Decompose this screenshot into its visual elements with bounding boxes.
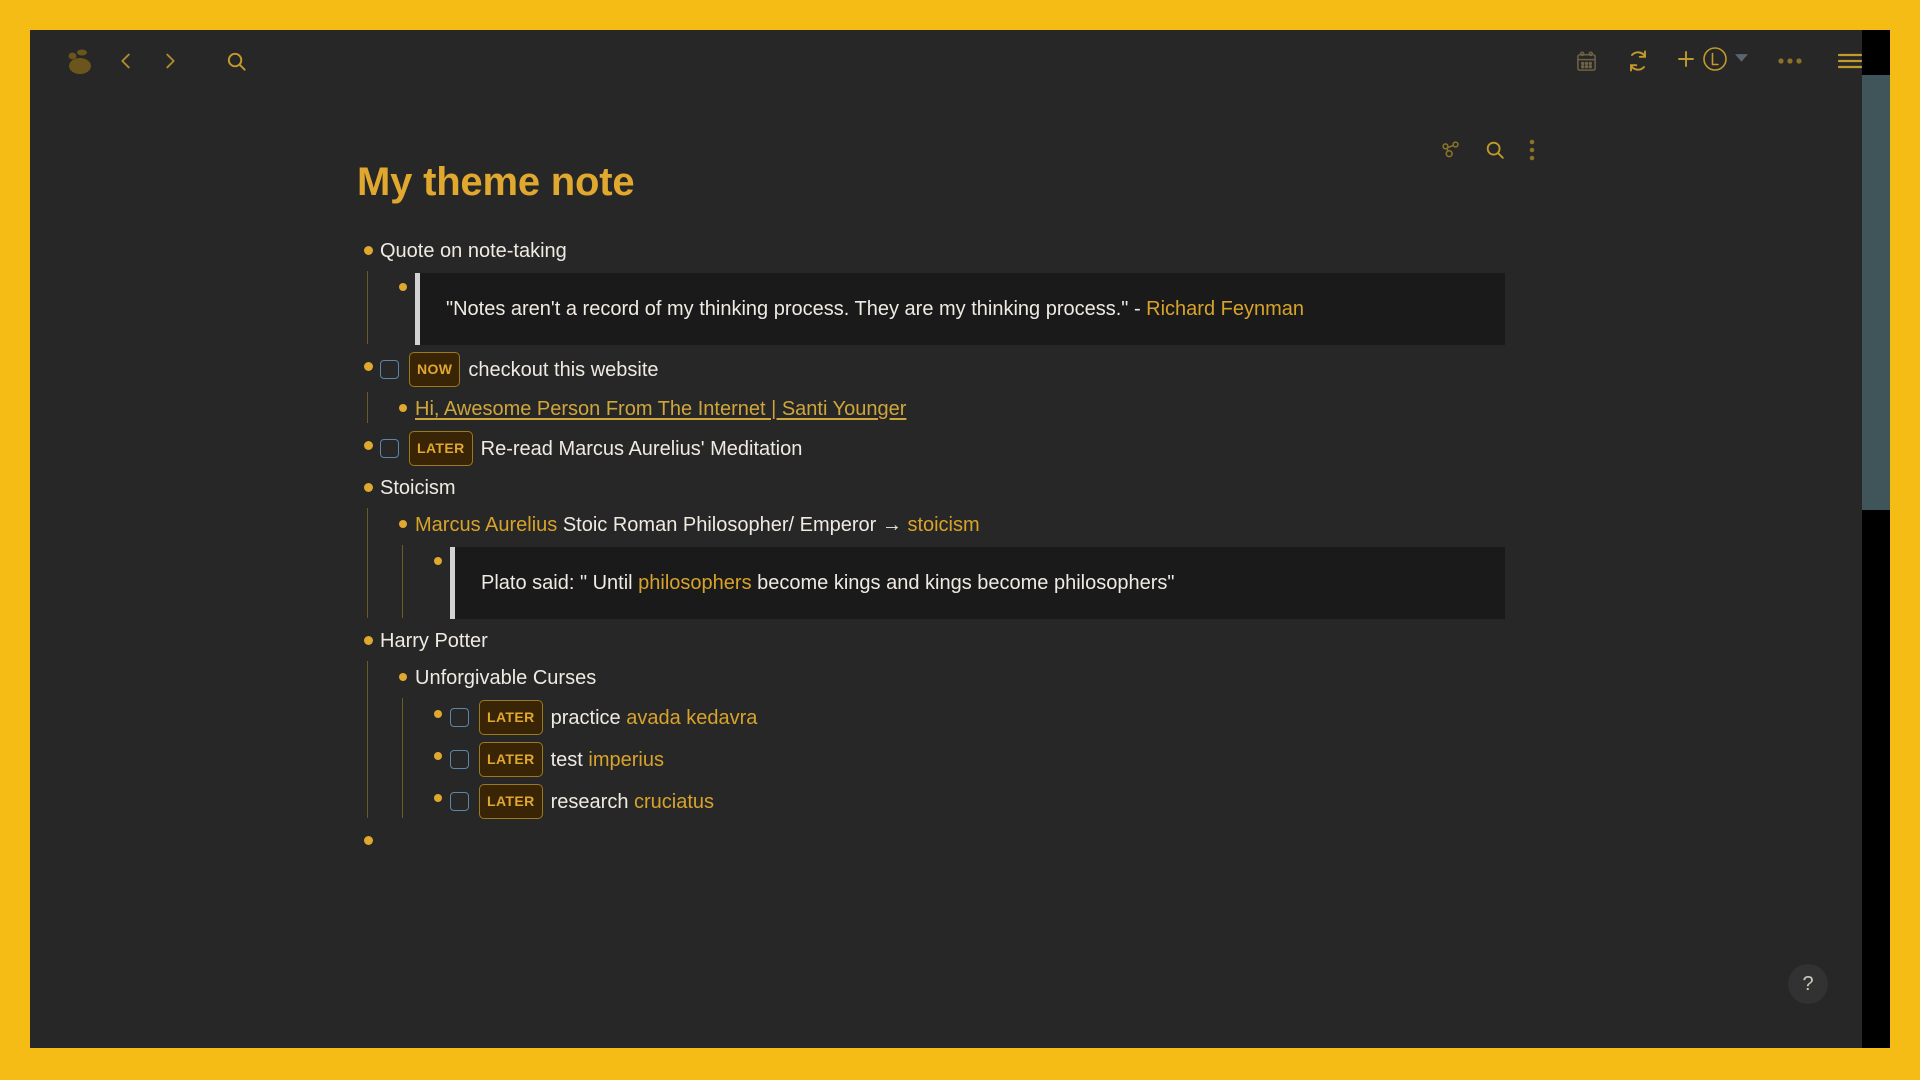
bullet-icon [399,283,407,291]
todo-text: Re-read Marcus Aurelius' Meditation [481,438,803,460]
calendar-icon[interactable] [1564,39,1608,83]
forward-button[interactable] [148,39,192,83]
block-content[interactable]: Hi, Awesome Person From The Internet | S… [415,393,1536,424]
block-row[interactable]: LATERpractice avada kedavra [426,696,1536,738]
bullet-handle[interactable] [356,625,380,655]
block-row[interactable]: Plato said: " Until philosophers become … [426,543,1536,622]
main-content-area: My theme note Quote on note-taking [30,92,1862,1048]
block-content[interactable]: NOWcheckout this website [380,351,1536,387]
block-row[interactable]: Quote on note-taking [356,232,1536,269]
plus-icon [1674,47,1698,76]
bullet-icon [364,483,373,492]
bullet-icon [434,557,442,565]
bullet-handle[interactable] [426,783,450,813]
bullet-handle[interactable] [426,546,450,576]
todo-checkbox[interactable] [380,439,399,458]
bullet-handle[interactable] [426,741,450,771]
block-website-link: Hi, Awesome Person From The Internet | S… [391,390,1536,427]
block-content[interactable] [380,825,1536,826]
chevron-down-icon [1735,52,1748,70]
page-search-icon[interactable] [1484,139,1506,161]
bullet-icon [399,404,407,412]
block-children: "Notes aren't a record of my thinking pr… [367,269,1536,348]
dots-horizontal-icon[interactable] [1768,39,1812,83]
block-practice-avada-kedavra: LATERpractice avada kedavra [426,696,1536,738]
block-children: Plato said: " Until philosophers become … [402,543,1536,622]
block-row[interactable]: NOWcheckout this website [356,348,1536,390]
later-marker-badge[interactable]: LATER [479,700,543,735]
page-link-avada-kedavra[interactable]: avada kedavra [626,707,757,729]
later-marker-badge[interactable]: LATER [479,742,543,777]
bullet-handle[interactable] [356,351,380,381]
todo-text: checkout this website [468,359,658,381]
back-button[interactable] [104,39,148,83]
page-link-imperius[interactable]: imperius [588,749,664,771]
block-content[interactable]: Quote on note-taking [380,235,1536,266]
block-row[interactable] [356,822,1536,858]
quote-text-pre: Plato said: " Until [481,572,638,594]
circle-l-icon [1701,45,1729,78]
todo-checkbox[interactable] [450,792,469,811]
block-row[interactable]: Unforgivable Curses [391,659,1536,696]
block-content[interactable]: LATERresearch cruciatus [450,783,1536,819]
block-row[interactable]: Hi, Awesome Person From The Internet | S… [391,390,1536,427]
bullet-icon [434,752,442,760]
todo-text: test [551,749,589,771]
search-icon[interactable] [214,39,258,83]
later-marker-badge[interactable]: LATER [479,784,543,819]
block-research-cruciatus: LATERresearch cruciatus [426,780,1536,822]
bullet-handle[interactable] [391,509,415,539]
block-row[interactable]: LATERRe-read Marcus Aurelius' Meditation [356,427,1536,469]
app-window: My theme note Quote on note-taking [30,30,1890,1048]
block-children: Marcus Aurelius Stoic Roman Philosopher/… [367,506,1536,622]
page-header: My theme note [356,160,1536,204]
block-reread-meditation: LATERRe-read Marcus Aurelius' Meditation [356,427,1536,469]
bullet-icon [364,636,373,645]
quote-block: Plato said: " Until philosophers become … [450,547,1505,619]
block-content[interactable]: LATERpractice avada kedavra [450,699,1536,735]
block-harry-potter: Harry Potter Unforgivable Curses [356,622,1536,822]
bullet-handle[interactable] [391,662,415,692]
page-link-philosophers[interactable]: philosophers [638,572,751,594]
block-stoicism: Stoicism Marcus Aurelius Stoic Roman Phi… [356,469,1536,622]
bullet-icon [399,673,407,681]
help-button[interactable]: ? [1788,964,1828,1004]
page-link-marcus-aurelius[interactable]: Marcus Aurelius [415,514,557,536]
new-page-button[interactable] [1670,45,1752,78]
block-content[interactable]: Unforgivable Curses [415,662,1536,693]
todo-text: research [551,791,634,813]
block-plato-quote: Plato said: " Until philosophers become … [426,543,1536,622]
refresh-icon[interactable] [1616,39,1660,83]
quote-author-link[interactable]: Richard Feynman [1146,298,1304,320]
block-content[interactable]: Stoicism [380,472,1536,503]
page-action-icons [1440,138,1536,162]
bullet-handle[interactable] [356,235,380,265]
bullet-handle[interactable] [391,393,415,423]
block-text: Stoic Roman Philosopher/ Emperor → [557,514,907,536]
block-children: Hi, Awesome Person From The Internet | S… [367,390,1536,427]
block-row[interactable]: Stoicism [356,469,1536,506]
quote-text: "Notes aren't a record of my thinking pr… [446,298,1146,320]
logseq-logo-icon[interactable] [52,39,104,83]
outline-blocks: Quote on note-taking "Notes aren't a rec… [356,232,1536,858]
bullet-handle[interactable] [356,472,380,502]
bullet-icon [364,246,373,255]
block-children: Unforgivable Curses LATERpractice avada … [367,659,1536,822]
todo-checkbox[interactable] [380,360,399,379]
bullet-icon [364,441,373,450]
quote-text-post: become kings and kings become philosophe… [752,572,1175,594]
external-link[interactable]: Hi, Awesome Person From The Internet | S… [415,398,906,420]
bullet-handle[interactable] [356,430,380,460]
todo-checkbox[interactable] [450,750,469,769]
later-marker-badge[interactable]: LATER [409,431,473,466]
dots-vertical-icon[interactable] [1528,138,1536,162]
scrollbar-thumb[interactable] [1862,75,1890,510]
block-empty [356,822,1536,858]
block-row[interactable]: Harry Potter [356,622,1536,659]
block-content[interactable]: Plato said: " Until philosophers become … [450,546,1536,619]
bullet-handle[interactable] [391,272,415,302]
block-row[interactable]: LATERresearch cruciatus [426,780,1536,822]
block-unforgivable-curses: Unforgivable Curses LATERpractice avada … [391,659,1536,822]
block-checkout-website: NOWcheckout this website Hi, Awesome Per… [356,348,1536,427]
block-content[interactable]: LATERRe-read Marcus Aurelius' Meditation [380,430,1536,466]
todo-checkbox[interactable] [450,708,469,727]
block-children: LATERpractice avada kedavra LATERtest im… [402,696,1536,822]
share-graph-icon[interactable] [1440,139,1462,161]
bullet-icon [399,520,407,528]
block-content[interactable]: LATERtest imperius [450,741,1536,777]
bullet-icon [434,794,442,802]
bullet-icon [364,836,373,845]
now-marker-badge[interactable]: NOW [409,352,460,387]
block-marcus-aurelius: Marcus Aurelius Stoic Roman Philosopher/… [391,506,1536,622]
top-toolbar [30,30,1890,92]
bullet-icon [364,362,373,371]
block-test-imperius: LATERtest imperius [426,738,1536,780]
page-link-cruciatus[interactable]: cruciatus [634,791,714,813]
block-quote-on-note-taking: Quote on note-taking "Notes aren't a rec… [356,232,1536,348]
block-content[interactable]: Harry Potter [380,625,1536,656]
page-link-stoicism[interactable]: stoicism [907,514,979,536]
block-feynman-quote: "Notes aren't a record of my thinking pr… [391,269,1536,348]
block-content[interactable]: "Notes aren't a record of my thinking pr… [415,272,1536,345]
todo-text: practice [551,707,627,729]
page-container: My theme note Quote on note-taking [356,92,1536,858]
bullet-handle[interactable] [356,825,380,855]
block-row[interactable]: LATERtest imperius [426,738,1536,780]
block-row[interactable]: Marcus Aurelius Stoic Roman Philosopher/… [391,506,1536,543]
vertical-scrollbar[interactable] [1862,30,1890,1048]
block-content[interactable]: Marcus Aurelius Stoic Roman Philosopher/… [415,509,1536,540]
toolbar-right-group [1564,39,1890,83]
page-title[interactable]: My theme note [356,160,1536,204]
quote-block: "Notes aren't a record of my thinking pr… [415,273,1505,345]
bullet-icon [434,710,442,718]
block-row[interactable]: "Notes aren't a record of my thinking pr… [391,269,1536,348]
bullet-handle[interactable] [426,699,450,729]
toolbar-left-group [30,39,258,83]
